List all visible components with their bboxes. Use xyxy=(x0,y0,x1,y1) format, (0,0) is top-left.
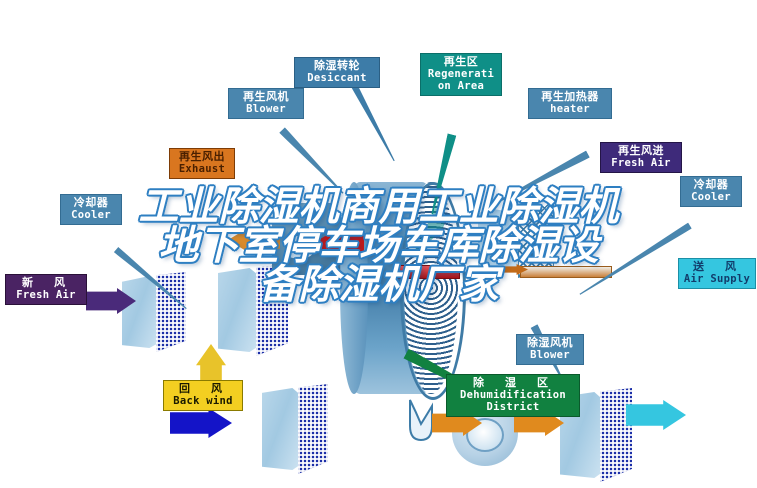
label-desiccant-rotor-en: Desiccant xyxy=(299,73,375,84)
label-cooler-right-cn: 冷却器 xyxy=(685,179,737,191)
regeneration-blower-shadow xyxy=(286,236,300,258)
leader-desiccant xyxy=(349,80,397,163)
cooler-left-coil-face xyxy=(156,272,186,352)
mid-duct-unit xyxy=(262,388,302,470)
label-dehumidification-district-en: Dehumidification xyxy=(451,390,575,401)
label-dehumidification-district-cn: 除 湿 区 xyxy=(451,377,575,389)
label-dehumidification-district[interactable]: 除 湿 区 Dehumidification District xyxy=(446,374,580,417)
label-regeneration-area-cn: 再生区 xyxy=(425,56,497,68)
label-dehumidification-district-en2: District xyxy=(451,402,575,413)
leader-heater xyxy=(489,150,590,209)
label-regeneration-blower-en: Blower xyxy=(233,104,299,115)
label-regeneration-air-out-en: Exhaust xyxy=(174,164,230,175)
label-regeneration-area-en: Regenerati xyxy=(425,69,497,80)
label-dehumidify-blower[interactable]: 除湿风机 Blower xyxy=(516,334,584,365)
regeneration-return-duct xyxy=(396,265,460,279)
label-dehumidify-blower-cn: 除湿风机 xyxy=(521,337,579,349)
label-cooler-right-en: Cooler xyxy=(685,192,737,203)
label-regeneration-air-in-cn: 再生风进 xyxy=(605,145,677,157)
exhaust-arrow xyxy=(228,228,280,252)
label-cooler-left[interactable]: 冷却器 Cooler xyxy=(60,194,122,225)
regeneration-heater-duct xyxy=(520,266,612,278)
desiccant-rotor-left-cap xyxy=(340,182,368,394)
label-fresh-air-cn: 新 风 xyxy=(10,277,82,289)
label-regeneration-heater[interactable]: 再生加热器 heater xyxy=(528,88,612,119)
label-regeneration-area-en2: on Area xyxy=(425,81,497,92)
label-air-supply[interactable]: 送 风 Air Supply xyxy=(678,258,756,289)
supply-coil-face xyxy=(600,388,632,482)
label-fresh-air-en: Fresh Air xyxy=(10,290,82,301)
process-coil-unit xyxy=(218,268,260,352)
leader-regen-blower xyxy=(279,127,346,196)
label-cooler-left-cn: 冷却器 xyxy=(65,197,117,209)
air-supply-arrow xyxy=(626,400,686,430)
leader-cooler-right xyxy=(578,223,692,298)
label-back-wind[interactable]: 回 风 Back wind xyxy=(163,380,243,411)
label-regeneration-blower[interactable]: 再生风机 Blower xyxy=(228,88,304,119)
label-regeneration-blower-cn: 再生风机 xyxy=(233,91,299,103)
process-air-arrow xyxy=(170,408,232,438)
label-desiccant-rotor-cn: 除湿转轮 xyxy=(299,60,375,72)
label-air-supply-en: Air Supply xyxy=(683,274,751,285)
label-cooler-left-en: Cooler xyxy=(65,210,117,221)
label-regeneration-air-out-cn: 再生风出 xyxy=(174,151,230,163)
label-fresh-air[interactable]: 新 风 Fresh Air xyxy=(5,274,87,305)
label-regeneration-air-in-en: Fresh Air xyxy=(605,158,677,169)
label-regeneration-heater-en: heater xyxy=(533,104,607,115)
cooler-left-unit xyxy=(122,276,160,348)
label-back-wind-en: Back wind xyxy=(168,396,238,407)
label-air-supply-cn: 送 风 xyxy=(683,261,751,273)
diagram-canvas: 除湿转轮 Desiccant 再生风机 Blower 再生区 Regenerat… xyxy=(0,0,757,488)
label-back-wind-cn: 回 风 xyxy=(168,383,238,395)
label-regeneration-heater-cn: 再生加热器 xyxy=(533,91,607,103)
process-coil-face xyxy=(256,264,288,356)
label-cooler-right[interactable]: 冷却器 Cooler xyxy=(680,176,742,207)
label-dehumidify-blower-en: Blower xyxy=(521,350,579,361)
label-regeneration-air-in[interactable]: 再生风进 Fresh Air xyxy=(600,142,682,173)
label-regeneration-area[interactable]: 再生区 Regenerati on Area xyxy=(420,53,502,96)
mid-duct-face xyxy=(298,384,328,474)
regeneration-heater-body xyxy=(478,208,520,270)
label-desiccant-rotor[interactable]: 除湿转轮 Desiccant xyxy=(294,57,380,88)
label-regeneration-air-out[interactable]: 再生风出 Exhaust xyxy=(169,148,235,179)
